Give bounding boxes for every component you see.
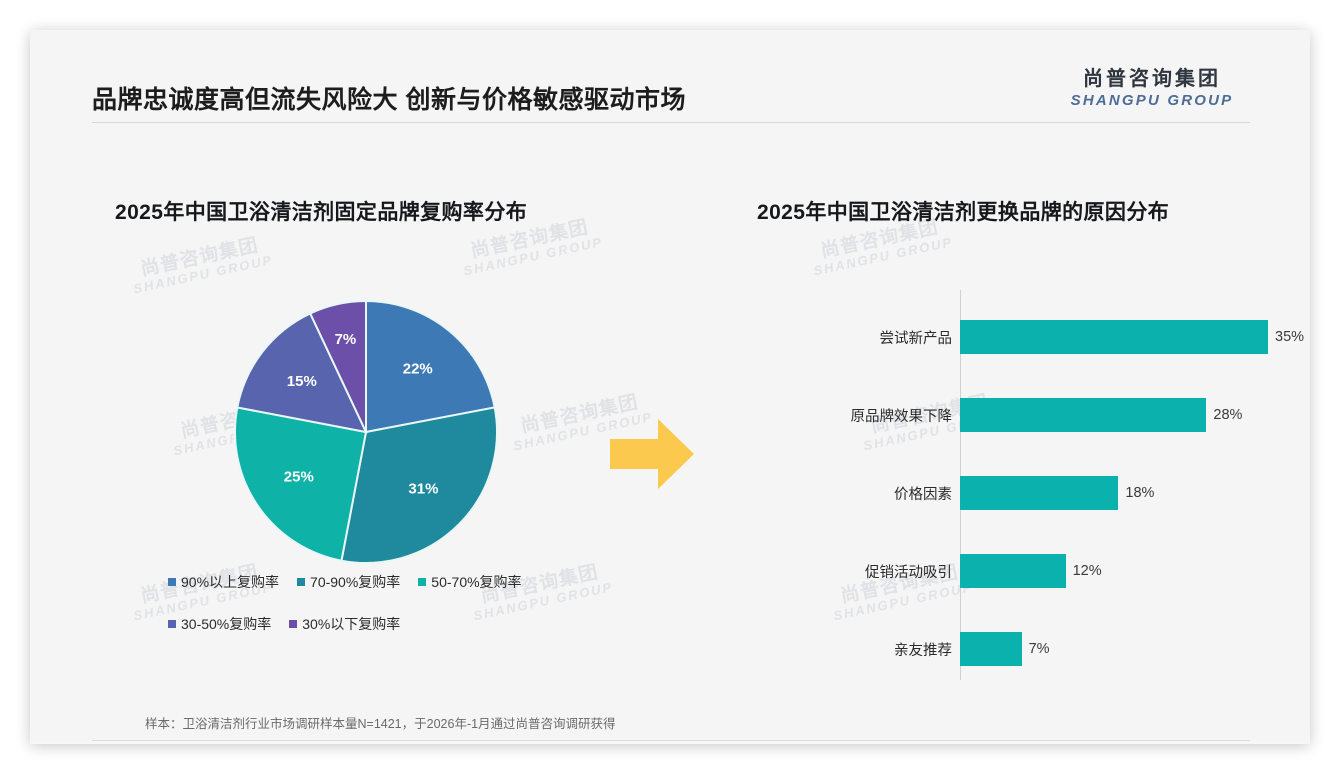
bar-fill[interactable] xyxy=(960,476,1118,510)
legend-swatch-icon xyxy=(168,578,176,586)
pie-slice-label: 22% xyxy=(403,360,433,377)
bar-value-label: 12% xyxy=(1073,563,1102,579)
slide-canvas: 尚普咨询集团SHANGPU GROUP 尚普咨询集团SHANGPU GROUP … xyxy=(30,30,1310,744)
legend-row: 30-50%复购率30%以下复购率 xyxy=(168,614,588,634)
legend-item[interactable]: 30-50%复购率 xyxy=(168,614,271,634)
legend-swatch-icon xyxy=(418,578,426,586)
legend-item[interactable]: 30%以下复购率 xyxy=(289,614,400,634)
header-divider xyxy=(92,122,1250,123)
flow-arrow-icon xyxy=(608,417,696,496)
bar-chart-row: 原品牌效果下降28% xyxy=(790,396,1290,434)
pie-chart-svg: 22%31%25%15%7% xyxy=(232,298,500,566)
pie-slice-label: 25% xyxy=(284,469,314,486)
pie-chart-legend: 90%以上复购率70-90%复购率50-70%复购率 30-50%复购率30%以… xyxy=(168,572,588,656)
watermark-cn: 尚普咨询集团 xyxy=(128,234,271,283)
legend-item[interactable]: 90%以上复购率 xyxy=(168,572,279,592)
legend-label: 30-50%复购率 xyxy=(181,614,271,634)
watermark-en: SHANGPU GROUP xyxy=(132,253,274,296)
legend-item[interactable]: 70-90%复购率 xyxy=(297,572,400,592)
slide-header xyxy=(30,30,1310,122)
pie-chart-title: 2025年中国卫浴清洁剂固定品牌复购率分布 xyxy=(115,196,527,226)
pie-slice-label: 15% xyxy=(287,373,317,390)
pie-slice-label: 7% xyxy=(335,331,357,348)
slide-footer xyxy=(30,741,1310,744)
legend-row: 90%以上复购率70-90%复购率50-70%复购率 xyxy=(168,572,588,592)
bar-value-label: 18% xyxy=(1125,485,1154,501)
pie-chart: 22%31%25%15%7% xyxy=(232,298,500,566)
watermark-en: SHANGPU GROUP xyxy=(812,235,954,278)
bar-category-label: 亲友推荐 xyxy=(790,639,960,660)
arrow-right-icon xyxy=(608,417,696,491)
bar-value-label: 7% xyxy=(1029,641,1050,657)
bar-fill[interactable] xyxy=(960,398,1206,432)
legend-swatch-icon xyxy=(297,578,305,586)
bar-chart: 尝试新产品35%原品牌效果下降28%价格因素18%促销活动吸引12%亲友推荐7% xyxy=(790,290,1290,680)
legend-item[interactable]: 50-70%复购率 xyxy=(418,572,521,592)
bar-chart-row: 价格因素18% xyxy=(790,474,1290,512)
legend-label: 50-70%复购率 xyxy=(431,572,521,592)
bar-category-label: 价格因素 xyxy=(790,483,960,504)
bar-chart-row: 亲友推荐7% xyxy=(790,630,1290,668)
pie-slice-label: 31% xyxy=(408,480,438,497)
bar-category-label: 促销活动吸引 xyxy=(790,561,960,582)
bar-fill[interactable] xyxy=(960,632,1022,666)
legend-swatch-icon xyxy=(168,620,176,628)
bar-chart-row: 促销活动吸引12% xyxy=(790,552,1290,590)
bar-fill[interactable] xyxy=(960,554,1066,588)
bar-category-label: 尝试新产品 xyxy=(790,327,960,348)
bar-fill[interactable] xyxy=(960,320,1268,354)
bar-category-label: 原品牌效果下降 xyxy=(790,405,960,426)
legend-label: 90%以上复购率 xyxy=(181,572,279,592)
bar-value-label: 35% xyxy=(1275,329,1304,345)
legend-label: 30%以下复购率 xyxy=(302,614,400,634)
bar-chart-row: 尝试新产品35% xyxy=(790,318,1290,356)
watermark-en: SHANGPU GROUP xyxy=(462,235,604,278)
pie-slice-group xyxy=(235,301,497,563)
legend-label: 70-90%复购率 xyxy=(310,572,400,592)
bar-value-label: 28% xyxy=(1213,407,1242,423)
bar-chart-title: 2025年中国卫浴清洁剂更换品牌的原因分布 xyxy=(757,196,1169,226)
legend-swatch-icon xyxy=(289,620,297,628)
sample-footnote: 样本：卫浴清洁剂行业市场调研样本量N=1421，于2026年-1月通过尚普咨询调… xyxy=(145,713,616,732)
